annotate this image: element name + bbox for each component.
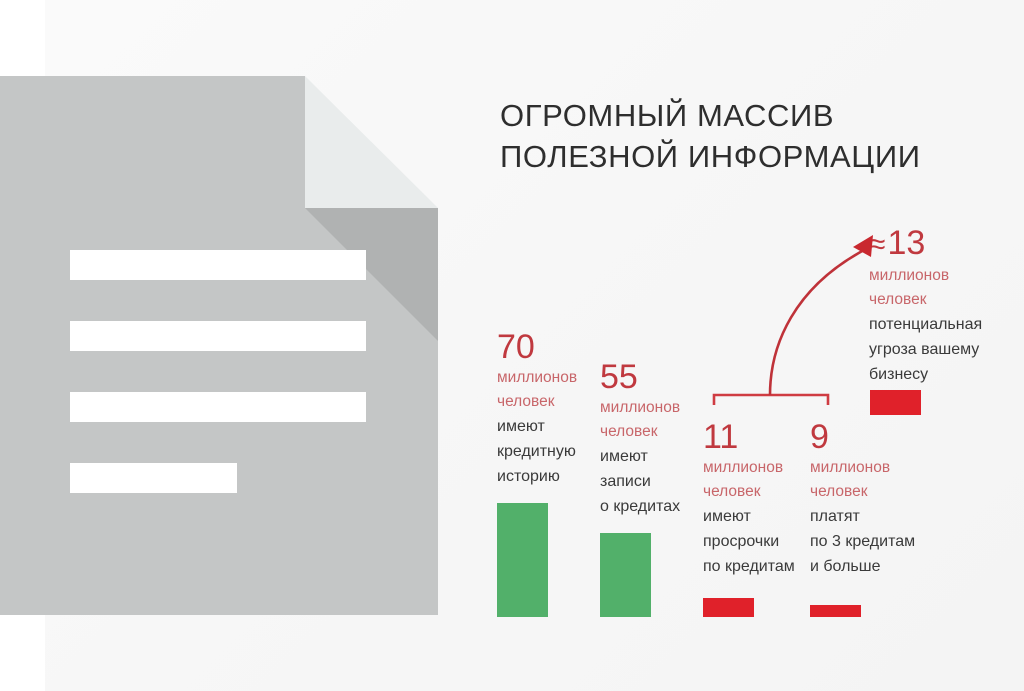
stat-description: имеют кредитную историю	[497, 414, 589, 489]
document-text-line	[70, 392, 366, 422]
stat-unit: миллионов человек	[810, 456, 922, 504]
document-text-line	[70, 250, 366, 280]
document-text-line	[70, 321, 366, 351]
stat-bar-red	[810, 605, 861, 617]
stat-bar-red	[703, 598, 754, 617]
stat-unit: миллионов человек	[600, 396, 695, 444]
stat-unit: миллионов человек	[497, 366, 589, 414]
stat-number: 70	[497, 328, 589, 366]
summary-number: 13	[887, 224, 925, 262]
bracket-arrow-connector	[690, 225, 890, 405]
stat-description: имеют просрочки по кредитам	[703, 504, 808, 579]
document-folded-corner	[305, 76, 438, 208]
stat-bar-green	[600, 533, 651, 617]
stat-number: 9	[810, 418, 922, 456]
document-text-line	[70, 463, 237, 493]
stat-description: платят по 3 кредитам и больше	[810, 504, 922, 579]
grouping-bracket	[714, 395, 828, 405]
stat-unit: миллионов человек	[703, 456, 808, 504]
stat-number: 11	[703, 418, 808, 456]
infographic-canvas: ОГРОМНЫЙ МАССИВ ПОЛЕЗНОЙ ИНФОРМАЦИИ 70 м…	[0, 0, 1024, 691]
stat-block-70: 70 миллионов человек имеют кредитную ист…	[497, 328, 589, 617]
stat-block-55: 55 миллионов человек имеют записи о кред…	[600, 358, 695, 617]
page-title: ОГРОМНЫЙ МАССИВ ПОЛЕЗНОЙ ИНФОРМАЦИИ	[500, 95, 1000, 177]
arrow-stem	[770, 249, 866, 395]
stat-description: имеют записи о кредитах	[600, 444, 695, 519]
document-illustration	[0, 76, 438, 615]
stat-number: 55	[600, 358, 695, 396]
stat-block-11: 11 миллионов человек имеют просрочки по …	[703, 418, 808, 617]
stat-block-9: 9 миллионов человек платят по 3 кредитам…	[810, 418, 922, 617]
stat-bar-green	[497, 503, 548, 617]
